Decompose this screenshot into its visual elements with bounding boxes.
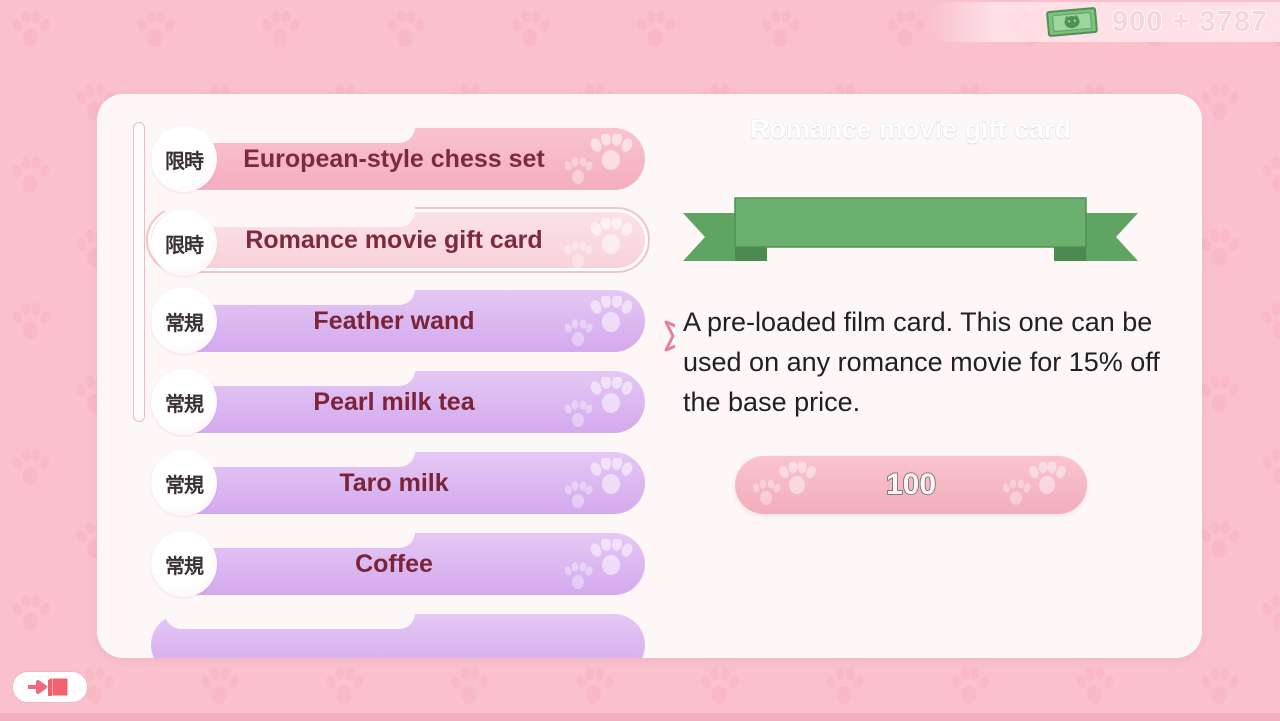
list-item-label: Pearl milk tea <box>229 388 559 417</box>
money-amount: 900 + 3787 <box>1112 6 1268 39</box>
list-item-body: Pearl milk tea <box>151 371 645 433</box>
item-description: A pre-loaded film card. This one can be … <box>683 302 1163 422</box>
shop-screen: 900 + 3787 European-style chess set <box>0 0 1280 721</box>
list-item-body: European-style chess set <box>151 128 645 190</box>
list-item[interactable]: Taro milk <box>151 452 645 514</box>
paw-decoration-icon <box>565 458 633 510</box>
currency-hud: 900 + 3787 <box>930 2 1280 42</box>
rarity-badge-label: 限時 <box>165 145 203 174</box>
list-item[interactable]: European-style chess set <box>151 128 645 190</box>
paw-decoration-icon <box>565 296 633 348</box>
rarity-badge: 限時 <box>151 126 217 192</box>
list-item-label: Taro milk <box>229 469 559 498</box>
paw-decoration-icon <box>565 218 633 268</box>
rarity-badge-label: 常規 <box>165 307 203 336</box>
list-item-body <box>151 614 645 658</box>
list-item-label: Coffee <box>229 550 559 579</box>
paw-decoration-icon <box>565 134 633 186</box>
price-amount: 100 <box>886 468 936 502</box>
banknote-cat-icon <box>1046 7 1098 37</box>
paw-decoration-icon <box>565 377 633 429</box>
item-detail-pane: Romance movie gift card A pre-loaded fil… <box>683 94 1202 658</box>
rarity-badge-label: 常規 <box>165 550 203 579</box>
paw-decoration-icon <box>565 539 633 591</box>
buy-price-button[interactable]: 100 <box>735 456 1087 514</box>
list-item[interactable]: Coffee <box>151 533 645 595</box>
shop-panel: European-style chess set <box>97 94 1202 658</box>
list-item-label: Romance movie gift card <box>229 226 559 255</box>
rarity-badge: 常規 <box>151 288 217 354</box>
rarity-badge: 常規 <box>151 450 217 516</box>
rarity-badge-label: 常規 <box>165 388 203 417</box>
item-title-ribbon <box>683 195 1138 279</box>
paw-decoration-icon <box>1003 462 1069 508</box>
list-scrollbar[interactable] <box>133 122 145 422</box>
item-list[interactable]: European-style chess set <box>115 94 675 658</box>
item-title: Romance movie gift card <box>683 114 1138 145</box>
rarity-badge-label: 常規 <box>165 469 203 498</box>
list-item-selected[interactable]: Romance movie gift card <box>148 209 648 271</box>
list-item-body: Coffee <box>151 533 645 595</box>
list-item-label: European-style chess set <box>229 145 559 174</box>
rarity-badge: 限時 <box>151 210 217 276</box>
exit-door-icon <box>24 676 76 698</box>
list-item[interactable]: Feather wand <box>151 290 645 352</box>
bottom-divider <box>0 713 1280 721</box>
list-item-body: Romance movie gift card <box>151 212 645 268</box>
selection-pointer-icon <box>660 316 675 356</box>
exit-button[interactable] <box>12 671 88 703</box>
list-item-partial[interactable] <box>151 614 645 658</box>
list-item-label: Feather wand <box>229 307 559 336</box>
rarity-badge: 常規 <box>151 531 217 597</box>
rarity-badge-label: 限時 <box>165 229 203 258</box>
list-item-body: Feather wand <box>151 290 645 352</box>
rarity-badge: 常規 <box>151 369 217 435</box>
paw-decoration-icon <box>753 462 819 508</box>
list-item[interactable]: Pearl milk tea <box>151 371 645 433</box>
list-item-body: Taro milk <box>151 452 645 514</box>
